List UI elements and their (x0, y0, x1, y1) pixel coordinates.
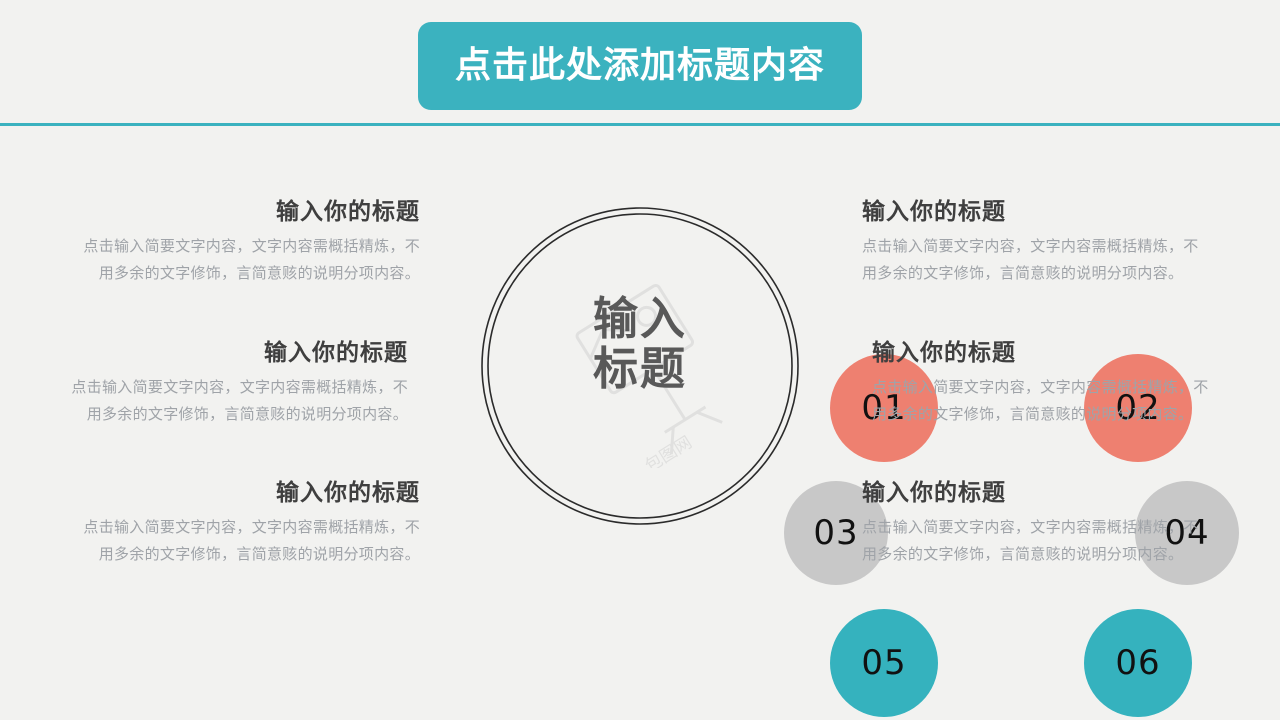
page-title: 点击此处添加标题内容 (455, 48, 825, 84)
text-block-02-body: 点击输入简要文字内容，文字内容需概括精炼，不用多余的文字修饰，言简意赅的说明分项… (862, 233, 1202, 288)
center-label: 输入 标题 (550, 294, 730, 395)
text-block-04-title: 输入你的标题 (872, 333, 1212, 367)
text-block-01-body: 点击输入简要文字内容，文字内容需概括精炼，不用多余的文字修饰，言简意赅的说明分项… (80, 233, 420, 288)
text-block-03-body: 点击输入简要文字内容，文字内容需概括精炼，不用多余的文字修饰，言简意赅的说明分项… (68, 374, 408, 429)
text-block-05[interactable]: 输入你的标题 点击输入简要文字内容，文字内容需概括精炼，不用多余的文字修饰，言简… (80, 473, 420, 569)
text-block-06-title: 输入你的标题 (862, 473, 1202, 507)
center-label-line1: 输入 (550, 294, 730, 344)
text-block-01[interactable]: 输入你的标题 点击输入简要文字内容，文字内容需概括精炼，不用多余的文字修饰，言简… (80, 192, 420, 288)
text-block-06[interactable]: 输入你的标题 点击输入简要文字内容，文字内容需概括精炼，不用多余的文字修饰，言简… (862, 473, 1202, 569)
title-banner[interactable]: 点击此处添加标题内容 (418, 22, 862, 110)
text-block-03[interactable]: 输入你的标题 点击输入简要文字内容，文字内容需概括精炼，不用多余的文字修饰，言简… (68, 333, 408, 429)
text-block-01-title: 输入你的标题 (80, 192, 420, 226)
circle-diagram: 包图网 输入 标题 01 02 03 04 05 06 (376, 166, 904, 566)
text-block-02[interactable]: 输入你的标题 点击输入简要文字内容，文字内容需概括精炼，不用多余的文字修饰，言简… (862, 192, 1202, 288)
text-block-05-title: 输入你的标题 (80, 473, 420, 507)
bubble-05[interactable]: 05 (830, 609, 938, 717)
bubble-05-number: 05 (861, 643, 906, 683)
bubble-06[interactable]: 06 (1084, 609, 1192, 717)
slide-canvas: 点击此处添加标题内容 包图网 输入 标题 01 (0, 0, 1280, 720)
bubble-06-number: 06 (1115, 643, 1160, 683)
text-block-02-title: 输入你的标题 (862, 192, 1202, 226)
text-block-06-body: 点击输入简要文字内容，文字内容需概括精炼，不用多余的文字修饰，言简意赅的说明分项… (862, 514, 1202, 569)
text-block-03-title: 输入你的标题 (68, 333, 408, 367)
text-block-04[interactable]: 输入你的标题 点击输入简要文字内容，文字内容需概括精炼，不用多余的文字修饰，言简… (872, 333, 1212, 429)
header-divider (0, 123, 1280, 126)
bubble-03-number: 03 (813, 513, 858, 553)
center-label-line2: 标题 (550, 344, 730, 394)
text-block-05-body: 点击输入简要文字内容，文字内容需概括精炼，不用多余的文字修饰，言简意赅的说明分项… (80, 514, 420, 569)
text-block-04-body: 点击输入简要文字内容，文字内容需概括精炼，不用多余的文字修饰，言简意赅的说明分项… (872, 374, 1212, 429)
